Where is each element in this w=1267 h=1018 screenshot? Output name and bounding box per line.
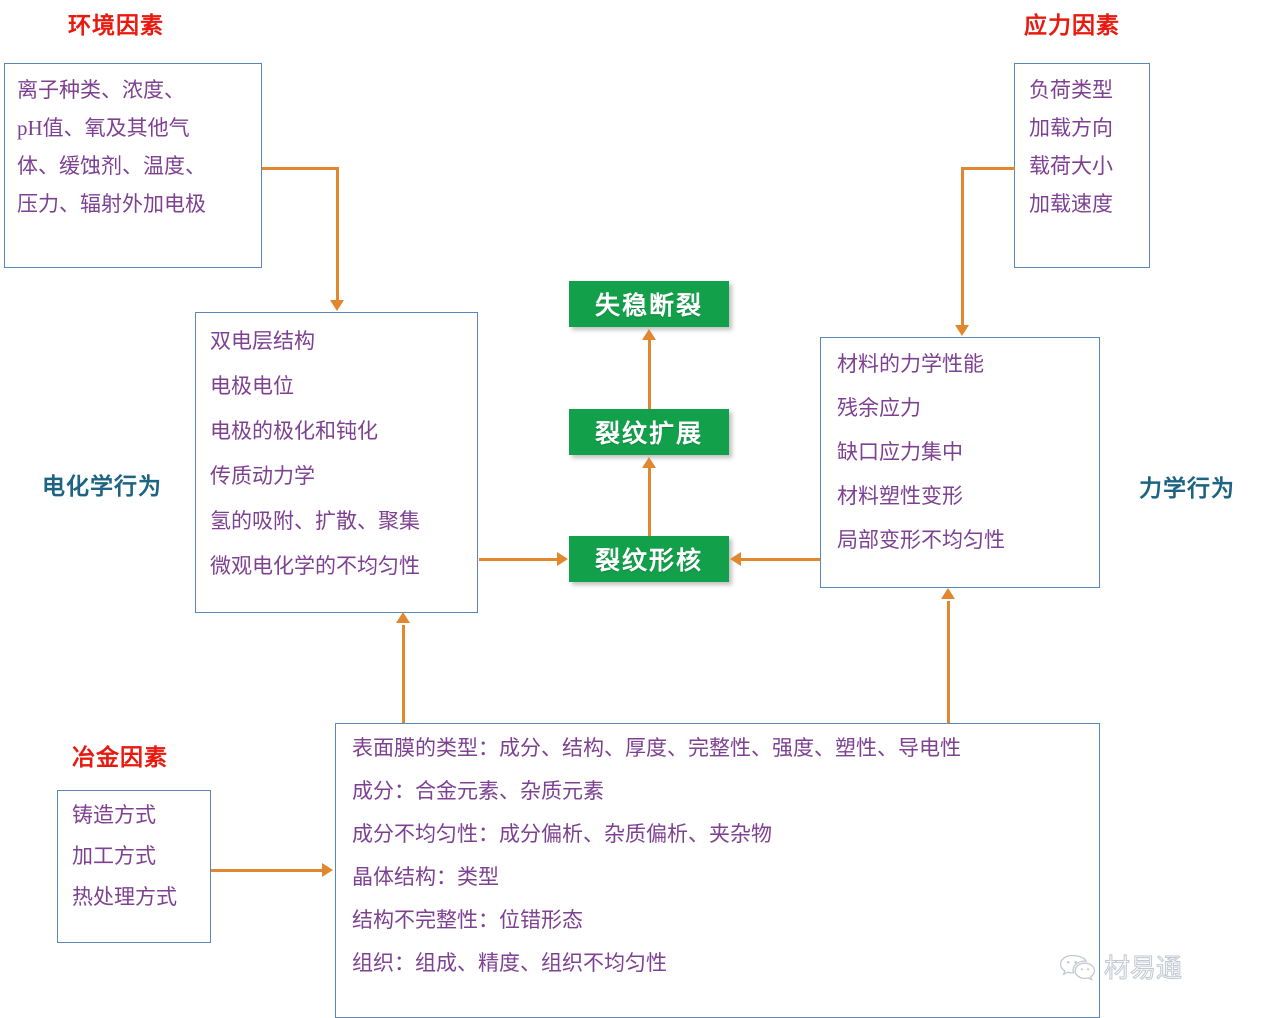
label-environment-factors: 环境因素 — [68, 14, 164, 37]
electrochemical-line-3: 电极的极化和钝化 — [210, 421, 465, 442]
arrowhead-electrochemical-to-nucleation — [557, 552, 568, 566]
box-metallurgical-factors: 表面膜的类型：成分、结构、厚度、完整性、强度、塑性、导电性 成分：合金元素、杂质… — [335, 723, 1100, 1018]
electrochemical-line-4: 传质动力学 — [210, 466, 465, 487]
processing-line-1: 铸造方式 — [72, 805, 198, 826]
electrochemical-line-5: 氢的吸附、扩散、聚集 — [210, 511, 465, 532]
label-electrochemical-behavior: 电化学行为 — [42, 475, 162, 498]
connector-metallurgy-to-mechanical — [947, 601, 950, 723]
electrochemical-line-2: 电极电位 — [210, 376, 465, 397]
arrowhead-environment-to-electrochemical — [330, 300, 344, 311]
metallurgy-line-6: 组织：组成、精度、组织不均匀性 — [352, 953, 1087, 974]
connector-nucleation-to-propagation — [648, 468, 651, 536]
box-mechanical-behavior: 材料的力学性能 残余应力 缺口应力集中 材料塑性变形 局部变形不均匀性 — [820, 337, 1100, 588]
arrowhead-metallurgy-to-electrochemical — [396, 612, 410, 623]
diagram-canvas: 环境因素 应力因素 电化学行为 力学行为 冶金因素 离子种类、浓度、 pH值、氧… — [0, 0, 1267, 1018]
box-processing-methods: 铸造方式 加工方式 热处理方式 — [57, 790, 211, 943]
mechanical-line-5: 局部变形不均匀性 — [837, 530, 1087, 551]
arrowhead-propagation-to-fracture — [642, 329, 656, 340]
label-metallurgical-factors: 冶金因素 — [72, 746, 168, 769]
processing-line-2: 加工方式 — [72, 846, 198, 867]
stress-line-1: 负荷类型 — [1029, 80, 1137, 101]
stress-line-4: 加载速度 — [1029, 194, 1137, 215]
box-environment-factors: 离子种类、浓度、 pH值、氧及其他气 体、缓蚀剂、温度、 压力、辐射外加电极 — [4, 63, 262, 268]
stress-line-3: 载荷大小 — [1029, 156, 1137, 177]
environment-line-4: 压力、辐射外加电极 — [17, 194, 249, 215]
connector-stress-v — [961, 167, 964, 326]
connector-metallurgy-to-electrochemical — [402, 625, 405, 723]
arrowhead-mechanical-to-nucleation — [730, 552, 741, 566]
label-mechanical-behavior: 力学行为 — [1139, 477, 1235, 500]
watermark-text: 材易通 — [1104, 948, 1182, 985]
metallurgy-line-4: 晶体结构：类型 — [352, 867, 1087, 888]
connector-stress-h — [961, 167, 1015, 170]
box-stress-factors: 负荷类型 加载方向 载荷大小 加载速度 — [1014, 63, 1150, 268]
watermark: 材易通 — [1058, 948, 1182, 985]
connector-environment-h — [262, 167, 339, 170]
wechat-icon — [1058, 953, 1098, 981]
metallurgy-line-1: 表面膜的类型：成分、结构、厚度、完整性、强度、塑性、导电性 — [352, 738, 1087, 759]
process-stage-unstable-fracture: 失稳断裂 — [569, 281, 729, 327]
metallurgy-line-2: 成分：合金元素、杂质元素 — [352, 781, 1087, 802]
arrowhead-processing-to-metallurgy — [322, 863, 333, 877]
connector-mechanical-to-nucleation — [741, 558, 820, 561]
mechanical-line-4: 材料塑性变形 — [837, 486, 1087, 507]
environment-line-2: pH值、氧及其他气 — [17, 118, 249, 139]
mechanical-line-2: 残余应力 — [837, 398, 1087, 419]
arrowhead-nucleation-to-propagation — [642, 457, 656, 468]
environment-line-3: 体、缓蚀剂、温度、 — [17, 156, 249, 177]
processing-line-3: 热处理方式 — [72, 887, 198, 908]
connector-environment-v — [336, 167, 339, 301]
electrochemical-line-6: 微观电化学的不均匀性 — [210, 556, 465, 577]
arrowhead-metallurgy-to-mechanical — [941, 588, 955, 599]
environment-line-1: 离子种类、浓度、 — [17, 80, 249, 101]
connector-propagation-to-fracture — [648, 340, 651, 409]
electrochemical-line-1: 双电层结构 — [210, 331, 465, 352]
process-stage-crack-nucleation: 裂纹形核 — [569, 536, 729, 582]
label-stress-factors: 应力因素 — [1024, 14, 1120, 37]
mechanical-line-1: 材料的力学性能 — [837, 354, 1087, 375]
mechanical-line-3: 缺口应力集中 — [837, 442, 1087, 463]
arrowhead-stress-to-mechanical — [955, 325, 969, 336]
stress-line-2: 加载方向 — [1029, 118, 1137, 139]
metallurgy-line-5: 结构不完整性：位错形态 — [352, 910, 1087, 931]
metallurgy-line-3: 成分不均匀性：成分偏析、杂质偏析、夹杂物 — [352, 824, 1087, 845]
process-stage-crack-propagation: 裂纹扩展 — [569, 409, 729, 455]
box-electrochemical-behavior: 双电层结构 电极电位 电极的极化和钝化 传质动力学 氢的吸附、扩散、聚集 微观电… — [195, 312, 478, 613]
connector-electrochemical-to-nucleation — [479, 558, 559, 561]
connector-processing-to-metallurgy — [211, 869, 324, 872]
